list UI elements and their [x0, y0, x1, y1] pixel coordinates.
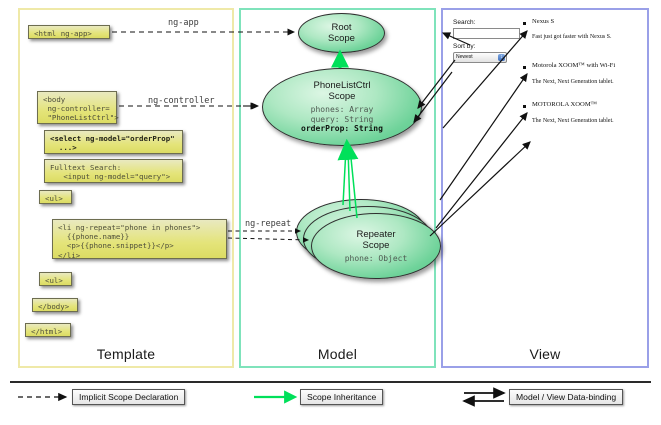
scope-phonelistctrl-props: phones: Array query: String orderProp: S…: [301, 105, 383, 133]
code-box-fulltext-search: Fulltext Search: <input ng-model="query"…: [44, 159, 183, 183]
code-box-ul-open: <ul>: [39, 190, 72, 204]
scope-repeater-title: Repeater Scope: [356, 229, 395, 251]
code-box-body-open: <body ng-controller= "PhoneListCtrl">: [37, 91, 117, 124]
view-phone-name[interactable]: Motorola XOOM™ with Wi-Fi: [532, 62, 615, 69]
code-box-li-repeat: <li ng-repeat="phone in phones"> {{phone…: [52, 219, 227, 259]
connector-label-ng-repeat: ng-repeat: [245, 219, 291, 229]
connector-label-ng-controller: ng-controller: [148, 96, 215, 106]
legend-item-implicit-scope-declaration: Implicit Scope Declaration: [72, 389, 185, 405]
list-bullet-icon: [523, 105, 526, 108]
view-phone-name[interactable]: MOTOROLA XOOM™: [532, 101, 597, 108]
code-box-body-close: </body>: [32, 298, 78, 312]
code-box-html-open: <html ng-app>: [28, 25, 110, 39]
code-box-html-close: </html>: [25, 323, 71, 337]
scope-root: Root Scope: [298, 13, 385, 53]
legend-item-scope-inheritance: Scope Inheritance: [300, 389, 383, 405]
view-search-input[interactable]: [453, 28, 520, 39]
scope-phonelistctrl: PhoneListCtrl Scope phones: Array query:…: [262, 68, 422, 146]
connector-label-ng-app: ng-app: [168, 18, 199, 28]
view-phone-snippet: The Next, Next Generation tablet.: [532, 79, 614, 85]
view-phone-name[interactable]: Nexus S: [532, 18, 554, 25]
scope-prop-phones: phones: Array: [301, 105, 383, 114]
legend-divider: [10, 381, 651, 383]
legend-item-model-view-data-binding: Model / View Data-binding: [509, 389, 623, 405]
code-box-ul-close: <ul>: [39, 272, 72, 286]
view-search-label: Search:: [453, 19, 475, 26]
panel-template: Template: [18, 8, 234, 368]
scope-phonelistctrl-title: PhoneListCtrl Scope: [313, 80, 370, 102]
panel-model-label: Model: [241, 346, 434, 362]
list-bullet-icon: [523, 22, 526, 25]
panel-model: Model: [239, 8, 436, 368]
view-sort-select[interactable]: Newest ↕: [453, 52, 507, 63]
view-phone-snippet: The Next, Next Generation tablet.: [532, 118, 614, 124]
view-sort-label: Sort by:: [453, 43, 475, 50]
view-sort-selected-value: Newest: [456, 54, 473, 60]
panel-view-label: View: [443, 346, 647, 362]
legend-glyph-double-arrow: [464, 393, 504, 401]
scope-repeater: Repeater Scope phone: Object: [311, 213, 441, 279]
diagram-canvas: Template Model View <html ng-app> <body …: [0, 0, 661, 425]
chevron-updown-icon: ↕: [498, 54, 505, 61]
scope-root-title: Root Scope: [328, 22, 355, 44]
scope-prop-orderprop: orderProp: String: [301, 124, 383, 133]
view-phone-snippet: Fast just got faster with Nexus S.: [532, 34, 612, 40]
list-bullet-icon: [523, 66, 526, 69]
panel-template-label: Template: [20, 346, 232, 362]
scope-repeater-props: phone: Object: [345, 254, 408, 263]
scope-prop-query: query: String: [301, 115, 383, 124]
code-box-select: <select ng-model="orderProp" ...>: [44, 130, 183, 154]
